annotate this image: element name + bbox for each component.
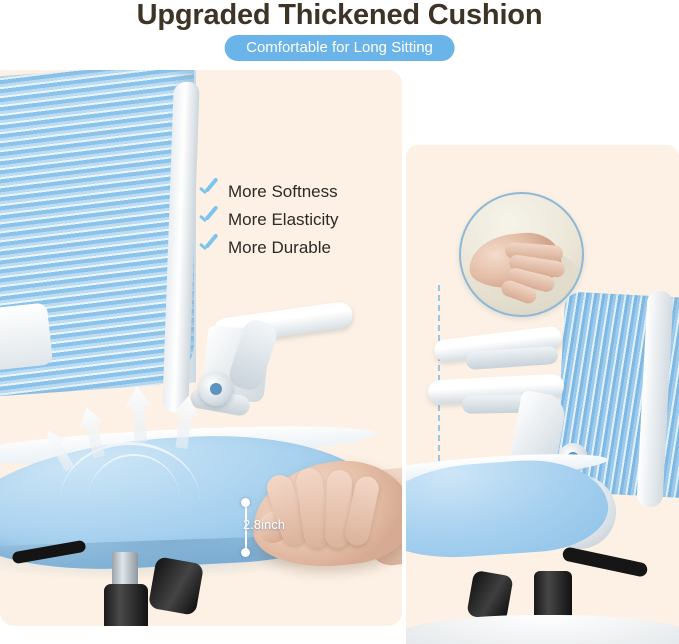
check-icon [196, 237, 222, 259]
feature-item-elasticity: More Elasticity [196, 206, 339, 234]
armrest-pivot-icon [199, 372, 233, 406]
feature-label: More Elasticity [228, 210, 339, 230]
right-product-panel [406, 145, 679, 644]
gas-cylinder [104, 584, 148, 626]
page-title: Upgraded Thickened Cushion [0, 0, 679, 32]
dimension-dot-top [241, 498, 250, 507]
height-adjust-knob [466, 570, 513, 622]
feature-label: More Softness [228, 182, 338, 202]
dimension-label: 2.8inch [243, 517, 285, 532]
tilt-lever [561, 546, 648, 578]
height-adjust-knob [148, 556, 204, 616]
chair-base [406, 615, 679, 644]
backrest-left-edge [0, 303, 53, 372]
feature-item-softness: More Softness [196, 178, 339, 206]
left-product-panel: 2.8inch More Softness More Elasticity Mo… [0, 70, 402, 626]
feature-item-durable: More Durable [196, 234, 339, 262]
callout-connector-line [438, 285, 440, 461]
header: Upgraded Thickened Cushion Comfortable f… [0, 0, 679, 70]
feature-label: More Durable [228, 238, 331, 258]
check-icon [196, 209, 222, 231]
check-icon [196, 181, 222, 203]
feature-list: More Softness More Elasticity More Durab… [196, 178, 339, 262]
foam-press-inset [459, 192, 584, 317]
dimension-dot-bottom [241, 548, 250, 557]
subtitle-badge: Comfortable for Long Sitting [224, 35, 455, 61]
